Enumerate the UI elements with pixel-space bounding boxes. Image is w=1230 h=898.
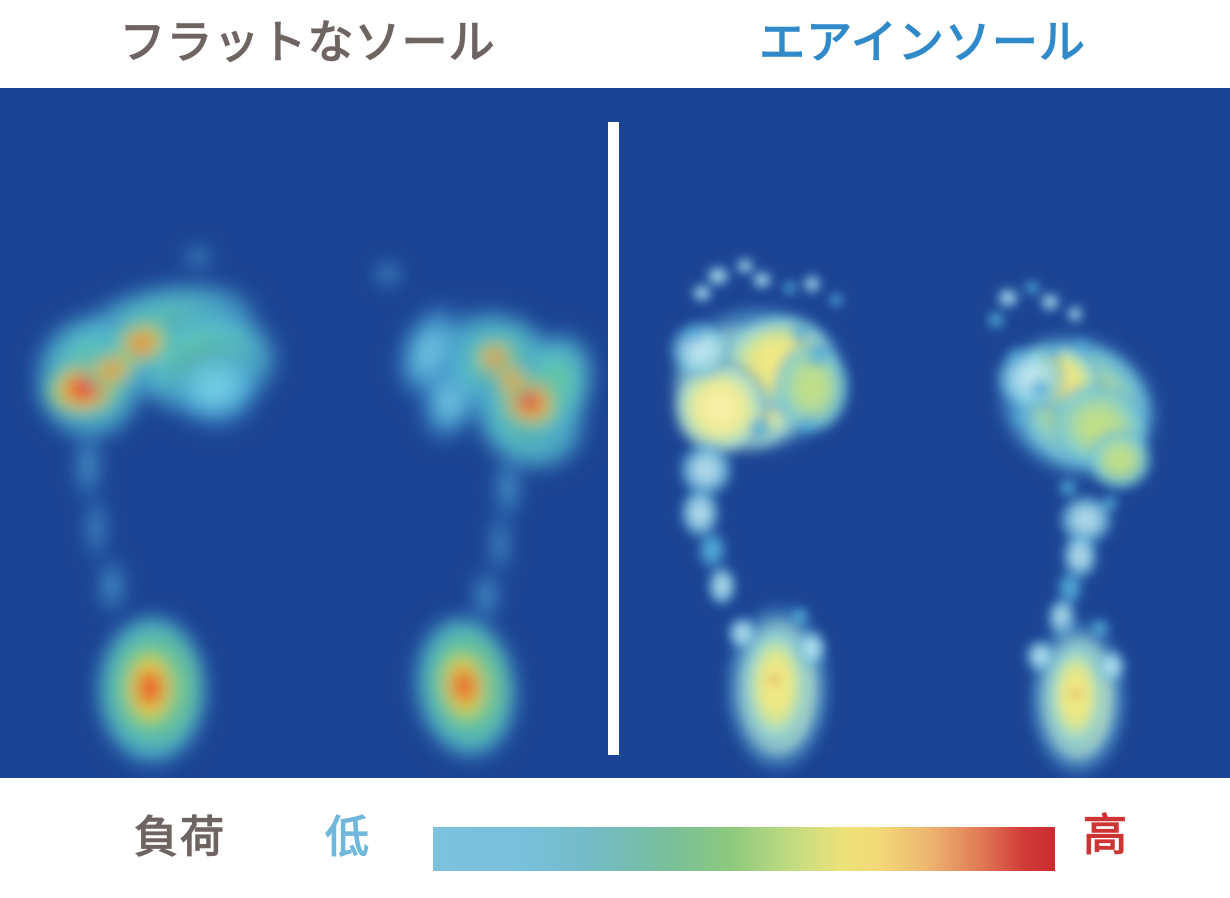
panel-title-air-insole: エアインソール	[615, 10, 1230, 74]
legend-high-label: 高	[1083, 810, 1127, 862]
legend-colorbar	[433, 827, 1055, 871]
pressure-map-panel	[0, 88, 1230, 778]
header: フラットなソール エアインソール	[0, 0, 1230, 88]
panel-divider	[608, 122, 619, 755]
legend-low-label: 低	[325, 812, 369, 864]
pressure-comparison-infographic: フラットなソール エアインソール	[0, 0, 1230, 898]
panel-title-flat-sole: フラットなソール	[0, 10, 615, 74]
legend-load-label: 負荷	[134, 812, 226, 864]
